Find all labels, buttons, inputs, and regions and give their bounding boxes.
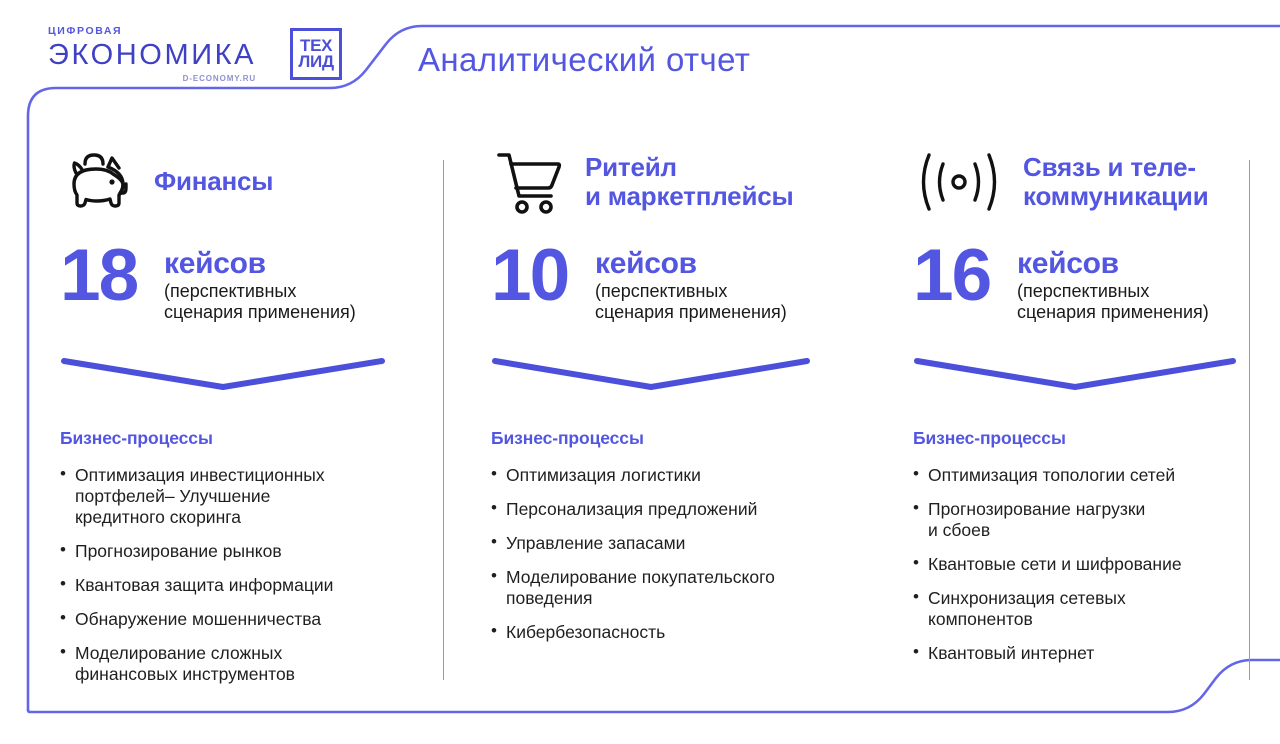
cases-count: 18 xyxy=(60,246,164,306)
column-title: Финансы xyxy=(154,167,273,196)
list-item: Моделирование покупательского поведения xyxy=(491,567,871,609)
cases-label: кейсов xyxy=(1017,249,1209,279)
columns-container: Финансы 18 кейсов (перспективных сценари… xyxy=(60,140,1235,698)
cases-label: кейсов xyxy=(595,249,787,279)
column-divider xyxy=(1249,160,1250,680)
business-processes-title: Бизнес-процессы xyxy=(913,428,1235,449)
logo-url-text: D-ECONOMY.RU xyxy=(183,75,256,83)
business-processes-title: Бизнес-процессы xyxy=(60,428,446,449)
column-title: Ритейл и маркетплейсы xyxy=(585,153,794,211)
list-item: Прогнозирование рынков xyxy=(60,541,446,562)
column-finance: Финансы 18 кейсов (перспективных сценари… xyxy=(60,140,446,698)
cases-note: (перспективных сценария применения) xyxy=(1017,281,1209,323)
list-item: Прогнозирование нагрузки и сбоев xyxy=(913,499,1235,541)
list-item: Квантовые сети и шифрование xyxy=(913,554,1235,575)
business-processes-title: Бизнес-процессы xyxy=(491,428,871,449)
column-telecom: Связь и теле- коммуникации 16 кейсов (пе… xyxy=(871,140,1235,698)
list-item: Синхронизация сетевых компонентов xyxy=(913,588,1235,630)
brand-logos: ЦИФРОВАЯ ЭКОНОМИКА D-ECONOMY.RU ТЕХ ЛИД xyxy=(48,26,342,83)
wireless-signal-icon xyxy=(913,146,1005,218)
column-title: Связь и теле- коммуникации xyxy=(1023,153,1209,211)
list-item: Кибербезопасность xyxy=(491,622,871,643)
cases-note: (перспективных сценария применения) xyxy=(164,281,356,323)
list-item: Оптимизация инвестиционных портфелей– Ул… xyxy=(60,465,446,528)
column-retail: Ритейл и маркетплейсы 10 кейсов (перспек… xyxy=(446,140,871,698)
business-processes-list: Оптимизация логистики Персонализация пре… xyxy=(491,465,871,643)
list-item: Квантовый интернет xyxy=(913,643,1235,664)
list-item: Оптимизация топологии сетей xyxy=(913,465,1235,486)
column-header: Ритейл и маркетплейсы xyxy=(491,140,871,224)
cases-label: кейсов xyxy=(164,249,356,279)
column-header: Финансы xyxy=(60,140,446,224)
list-item: Обнаружение мошенничества xyxy=(60,609,446,630)
techlead-logo: ТЕХ ЛИД xyxy=(290,28,342,80)
chevron-down-divider xyxy=(913,353,1237,393)
logo-main-text: ЭКОНОМИКА xyxy=(48,41,256,70)
list-item: Управление запасами xyxy=(491,533,871,554)
business-processes-list: Оптимизация топологии сетей Прогнозирова… xyxy=(913,465,1235,664)
cases-count-block: 18 кейсов (перспективных сценария примен… xyxy=(60,246,446,323)
infographic-page: ЦИФРОВАЯ ЭКОНОМИКА D-ECONOMY.RU ТЕХ ЛИД … xyxy=(0,0,1280,744)
column-divider xyxy=(443,160,444,680)
list-item: Персонализация предложений xyxy=(491,499,871,520)
digital-economy-logo: ЦИФРОВАЯ ЭКОНОМИКА D-ECONOMY.RU xyxy=(48,26,256,83)
list-item: Квантовая защита информации xyxy=(60,575,446,596)
business-processes-list: Оптимизация инвестиционных портфелей– Ул… xyxy=(60,465,446,685)
logo-top-text: ЦИФРОВАЯ xyxy=(48,26,122,37)
page-title: Аналитический отчет xyxy=(418,41,750,79)
chevron-down-divider xyxy=(491,353,811,393)
cases-count: 16 xyxy=(913,246,1017,306)
chevron-down-divider xyxy=(60,353,386,393)
column-header: Связь и теле- коммуникации xyxy=(913,140,1235,224)
list-item: Оптимизация логистики xyxy=(491,465,871,486)
piggy-bank-icon xyxy=(60,146,136,218)
cases-count-block: 16 кейсов (перспективных сценария примен… xyxy=(913,246,1235,323)
cases-note: (перспективных сценария применения) xyxy=(595,281,787,323)
cases-count-block: 10 кейсов (перспективных сценария примен… xyxy=(491,246,871,323)
techlead-line2: ЛИД xyxy=(298,54,333,70)
list-item: Моделирование сложных финансовых инструм… xyxy=(60,643,446,685)
cases-count: 10 xyxy=(491,246,595,306)
shopping-cart-icon xyxy=(491,146,567,218)
